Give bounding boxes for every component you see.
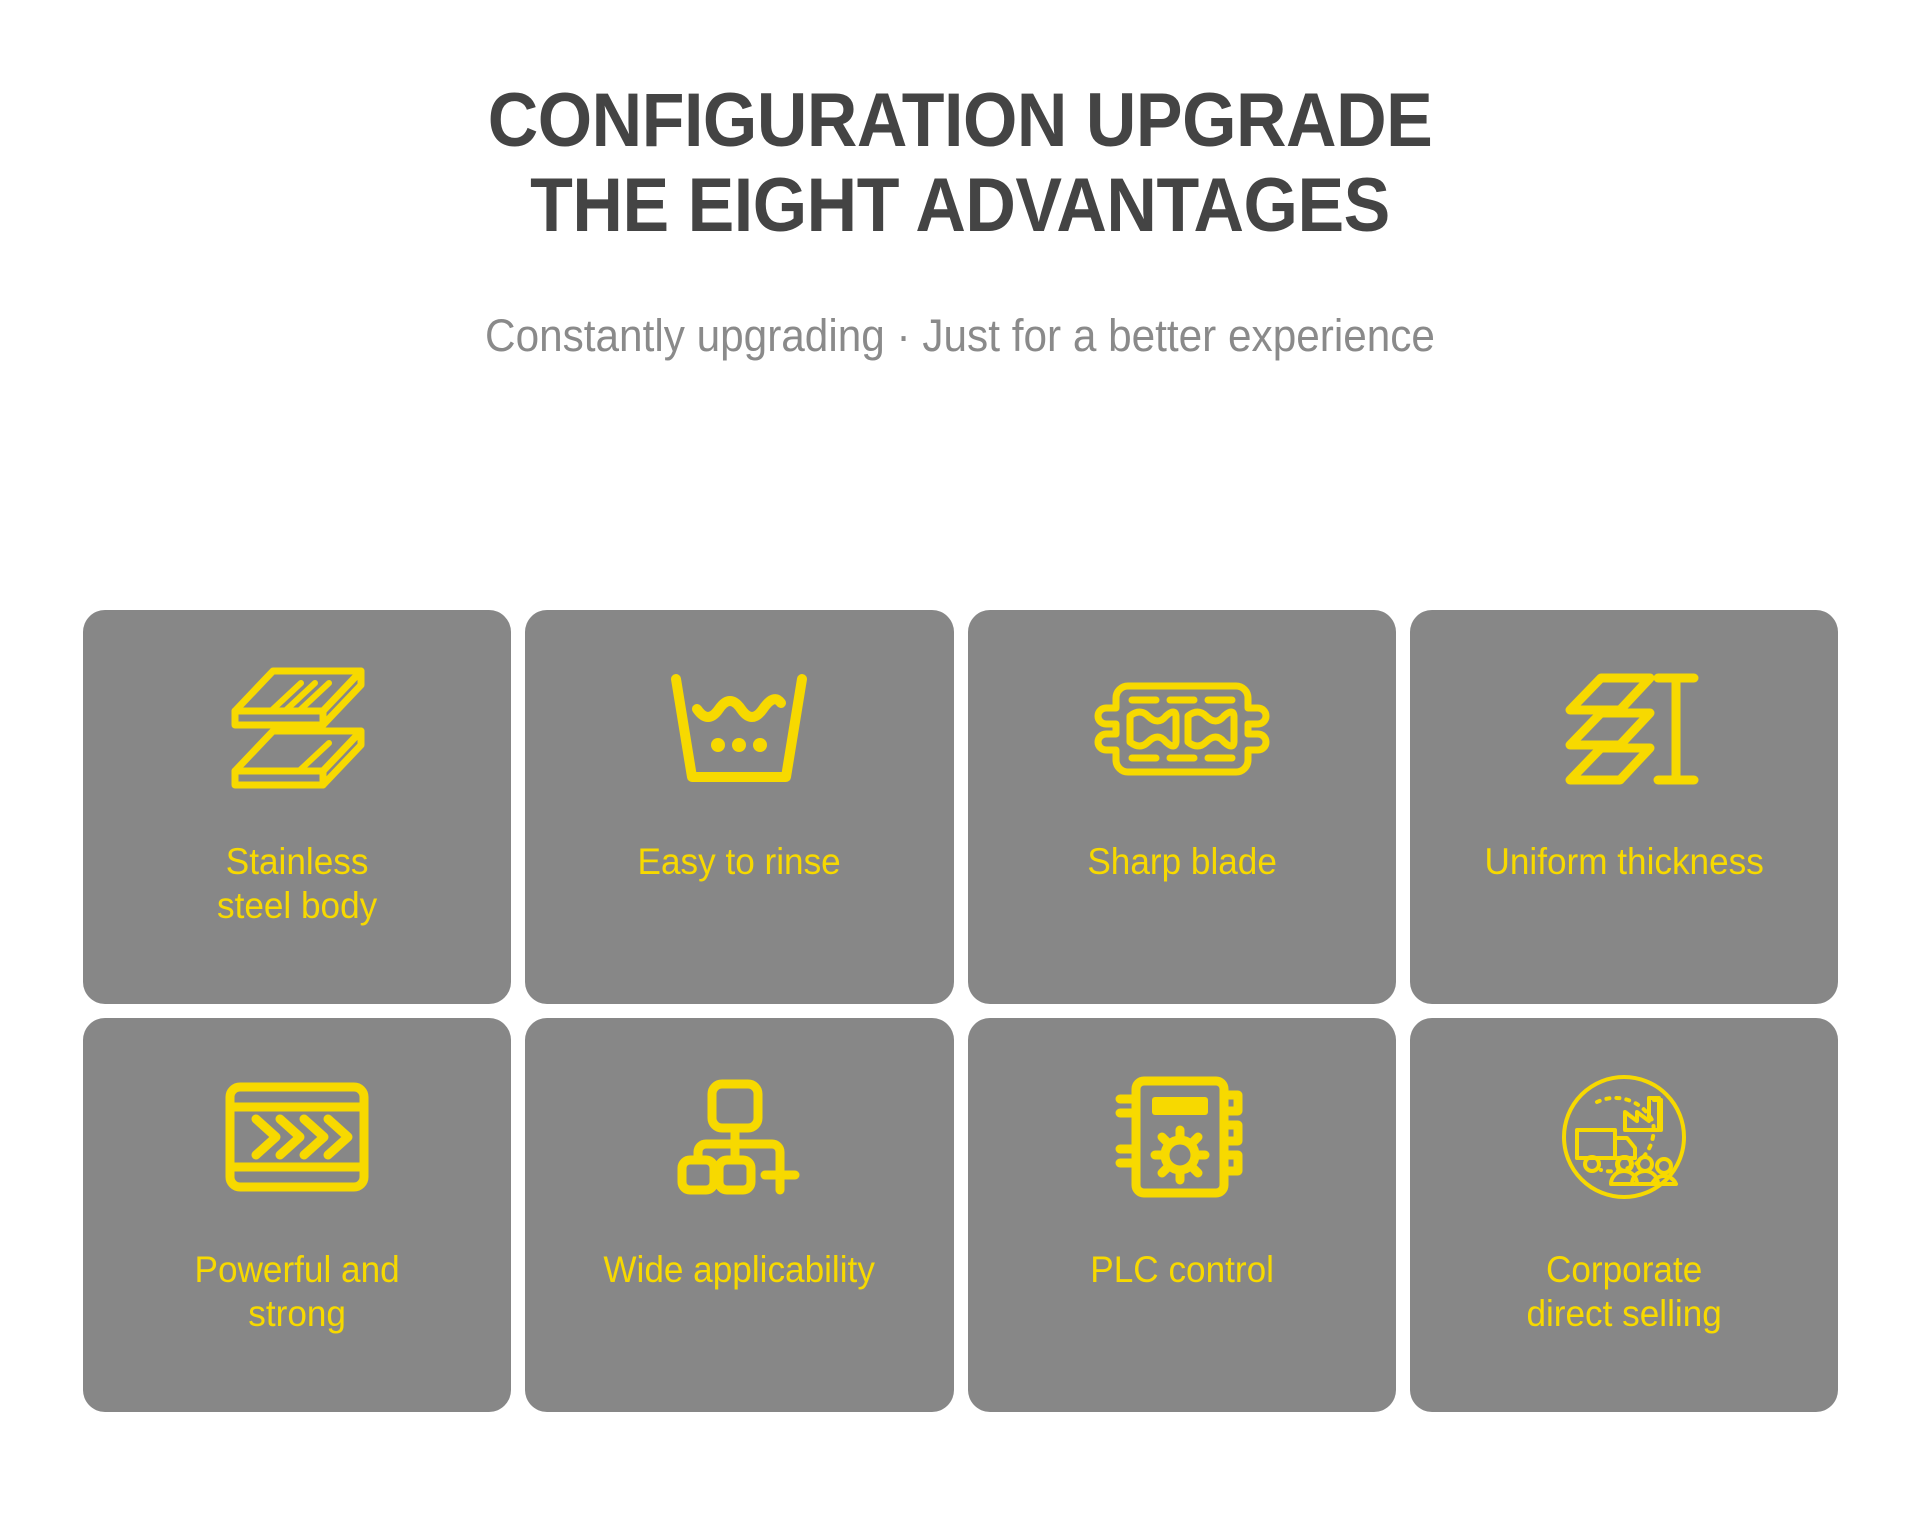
card-label: Easy to rinse [536,840,943,884]
page-subtitle: Constantly upgrading · Just for a better… [58,310,1863,362]
card-label: PLC control [978,1248,1385,1292]
advantage-card-corporate-direct-selling[interactable]: Corporate direct selling [1410,1018,1838,1412]
chevrons-frame-icon [83,1018,511,1248]
advantages-grid: Stainless steel body Easy to rinse [83,610,1838,1412]
advantage-card-easy-to-rinse[interactable]: Easy to rinse [525,610,953,1004]
page-title: CONFIGURATION UPGRADE THE EIGHT ADVANTAG… [77,78,1843,248]
controller-gear-icon [968,1018,1396,1248]
card-label: Stainless steel body [94,840,501,927]
card-label: Sharp blade [978,840,1385,884]
wash-basin-icon [525,610,953,840]
layers-ruler-icon [1410,610,1838,840]
advantage-card-plc-control[interactable]: PLC control [968,1018,1396,1412]
advantage-card-uniform-thickness[interactable]: Uniform thickness [1410,610,1838,1004]
card-label: Wide applicability [536,1248,943,1292]
card-label: Corporate direct selling [1420,1248,1827,1335]
advantage-card-sharp-blade[interactable]: Sharp blade [968,610,1396,1004]
hierarchy-plus-icon [525,1018,953,1248]
card-label: Uniform thickness [1420,840,1827,884]
advantages-infographic: CONFIGURATION UPGRADE THE EIGHT ADVANTAG… [0,0,1920,1522]
stacked-steel-plates-icon [83,610,511,840]
advantage-card-stainless-steel-body[interactable]: Stainless steel body [83,610,511,1004]
header: CONFIGURATION UPGRADE THE EIGHT ADVANTAG… [0,78,1920,248]
truck-factory-people-icon [1410,1018,1838,1248]
card-label: Powerful and strong [94,1248,501,1335]
razor-blade-icon [968,610,1396,840]
advantage-card-powerful-and-strong[interactable]: Powerful and strong [83,1018,511,1412]
advantage-card-wide-applicability[interactable]: Wide applicability [525,1018,953,1412]
